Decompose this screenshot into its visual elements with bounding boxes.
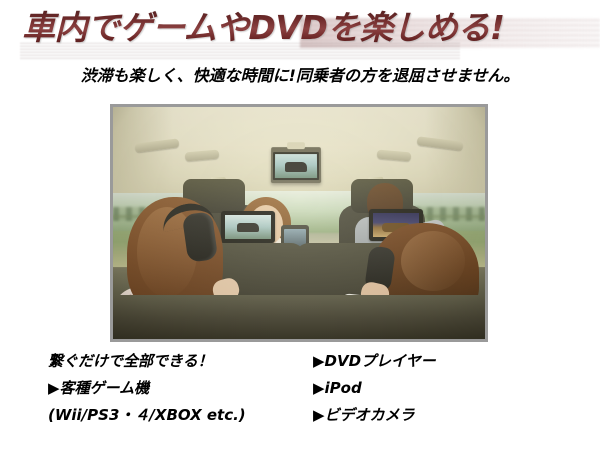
roof-shade-right <box>425 107 485 203</box>
photo-canvas <box>113 107 485 339</box>
monitor-screen <box>225 215 271 239</box>
ceiling-flip-down-monitor-icon <box>271 147 321 183</box>
page-subtitle: 渋滞も楽しく、快適な時間に!同乗者の方を退屈させません。 <box>0 62 600 86</box>
promo-page: 車内でゲームやDVDを楽しめる! 車内でゲームやDVDを楽しめる! 渋滞も楽しく… <box>0 0 600 450</box>
feature-column-left: 繋ぐだけで全部できる！ ▶客種ゲーム機 (Wii/PS3・４/XBOX etc.… <box>48 348 246 429</box>
feature-item: (Wii/PS3・４/XBOX etc.) <box>48 402 246 429</box>
feature-item: ▶客種ゲーム機 <box>48 375 246 402</box>
feature-item: ▶iPod <box>313 375 436 402</box>
monitor-mount <box>287 142 305 149</box>
page-title: 車内でゲームやDVDを楽しめる! <box>22 6 504 50</box>
title-block: 車内でゲームやDVDを楽しめる! 車内でゲームやDVDを楽しめる! <box>0 6 600 58</box>
rear-bench-foreground <box>113 295 485 339</box>
feature-item: 繋ぐだけで全部できる！ <box>48 348 246 375</box>
roof-shade-left <box>113 107 173 203</box>
monitor-screen <box>275 154 317 178</box>
feature-item: ▶DVDプレイヤー <box>313 348 436 375</box>
feature-item: ▶ビデオカメラ <box>313 402 436 429</box>
feature-column-right: ▶DVDプレイヤー ▶iPod ▶ビデオカメラ <box>313 348 436 429</box>
car-interior-photo <box>110 104 488 342</box>
headrest-monitor-left-icon <box>221 211 275 243</box>
screen-content-car <box>285 162 307 172</box>
